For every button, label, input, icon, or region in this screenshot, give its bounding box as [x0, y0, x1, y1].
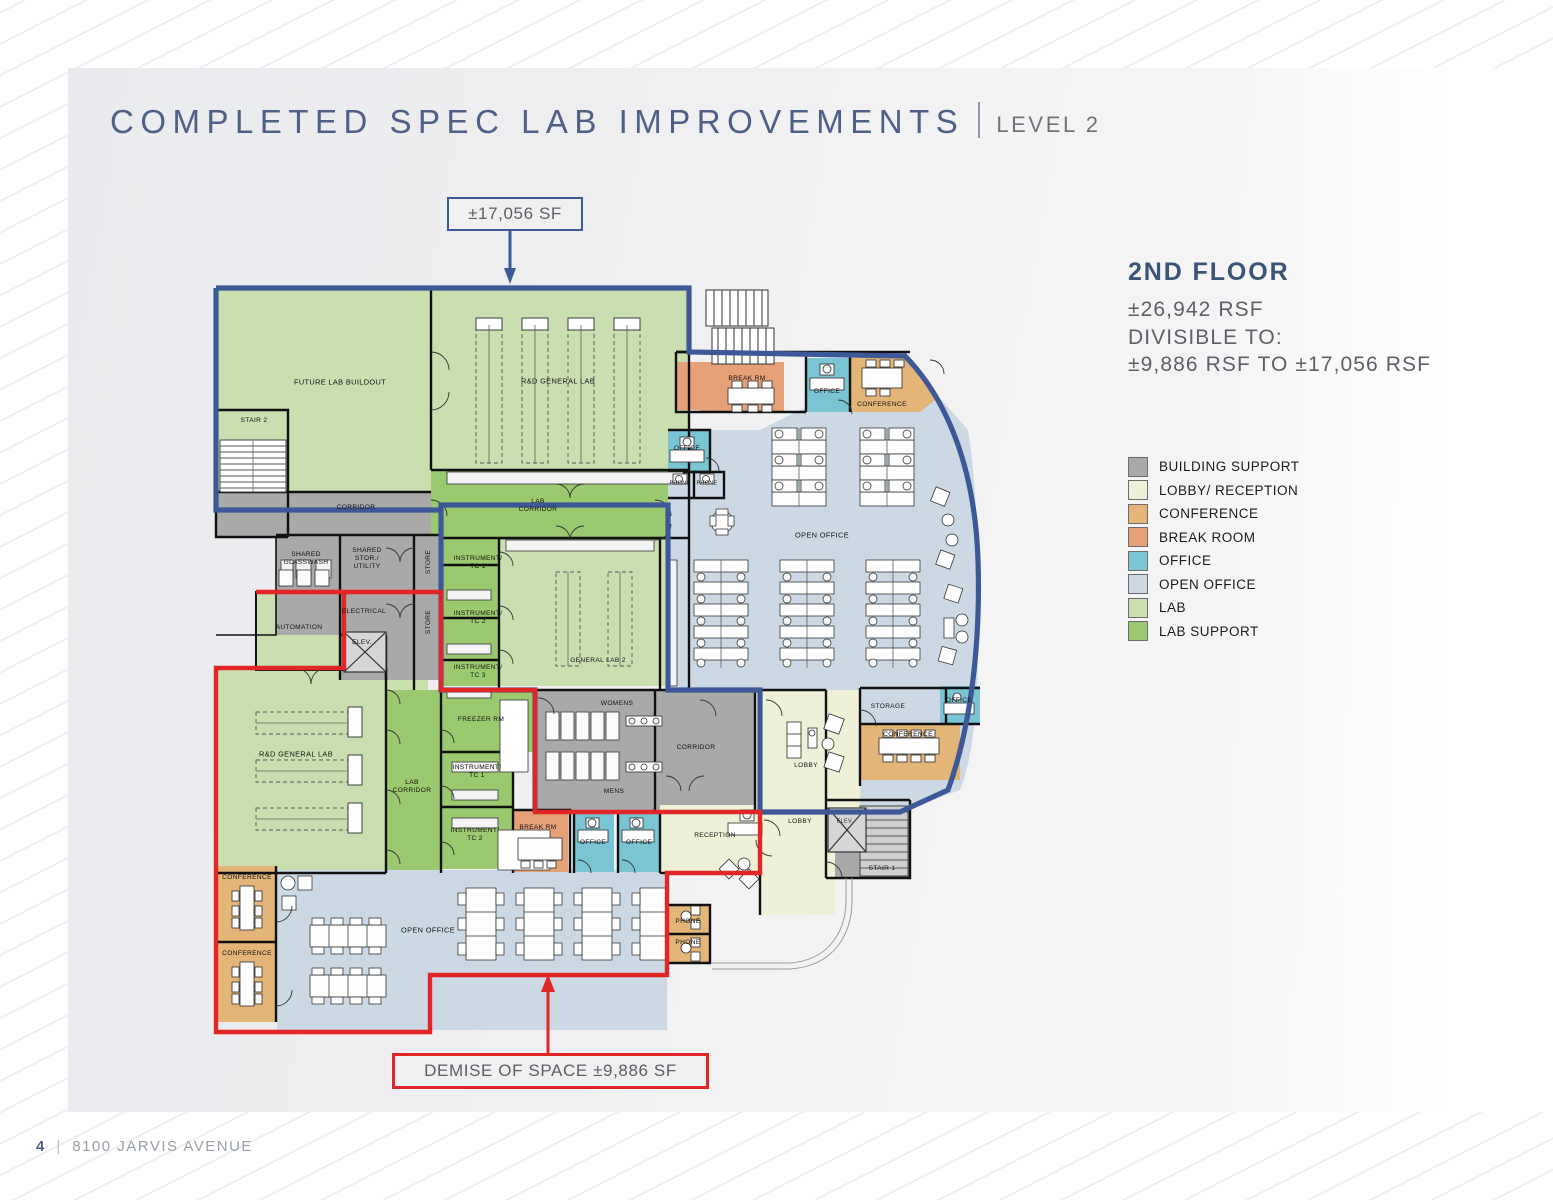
room-label: LAB CORRIDOR	[519, 498, 558, 514]
room-label: STORE	[425, 610, 433, 634]
room-label: BREAK RM	[519, 824, 556, 832]
legend-item-open-office: OPEN OFFICE	[1128, 573, 1300, 597]
room-label: CORRIDOR	[337, 504, 376, 512]
room-label: PHONE	[670, 481, 691, 488]
room-label: CORRIDOR	[677, 744, 716, 752]
callout-area-blue: ±17,056 SF	[447, 197, 583, 231]
room-label: OFFICE	[674, 445, 700, 453]
callout-demise-red: DEMISE OF SPACE ±9,886 SF	[392, 1053, 709, 1089]
room-label: ELEV.	[837, 819, 854, 826]
room-label: OPEN OFFICE	[795, 530, 849, 539]
room-label: PHONE	[675, 918, 700, 926]
room-label: FREEZER RM	[458, 716, 504, 724]
room-label: PHONE	[697, 481, 718, 488]
room-label: SHARED STOR./ UTILITY	[352, 547, 382, 571]
floor-info: 2ND FLOOR ±26,942 RSF DIVISIBLE TO: ±9,8…	[1128, 258, 1431, 379]
room-label: WOMENS	[601, 700, 634, 708]
legend-item-office: OFFICE	[1128, 549, 1300, 573]
room-label: CONFERENCE	[222, 950, 272, 958]
legend-label: CONFERENCE	[1159, 506, 1259, 521]
page-number: 4	[36, 1138, 44, 1155]
legend-swatch	[1128, 551, 1148, 571]
legend-swatch	[1128, 598, 1148, 618]
room-label: RECEPTION	[694, 832, 736, 840]
legend: BUILDING SUPPORT LOBBY/ RECEPTION CONFER…	[1128, 455, 1300, 643]
room-label: INSTRUMENT/ TC 1	[454, 555, 503, 571]
room-label: INSTRUMENT/ TC 3	[454, 664, 503, 680]
legend-label: BREAK ROOM	[1159, 530, 1256, 545]
legend-label: OPEN OFFICE	[1159, 577, 1256, 592]
footer-address: 8100 JARVIS AVENUE	[72, 1138, 253, 1155]
room-label: GENERAL LAB 2	[570, 657, 626, 665]
room-label: STAIR 2	[241, 417, 268, 425]
floor-info-title: 2ND FLOOR	[1128, 258, 1431, 287]
legend-label: LAB SUPPORT	[1159, 624, 1259, 639]
room-label: LOBBY	[794, 762, 818, 770]
room-label: CONFERENCE	[857, 401, 907, 409]
legend-label: BUILDING SUPPORT	[1159, 459, 1300, 474]
floor-info-divisible-label: DIVISIBLE TO:	[1128, 324, 1431, 352]
room-label: LAB CORRIDOR	[393, 779, 432, 795]
room-label: SHARED GLASSWASH	[284, 551, 329, 567]
room-label: BREAK RM	[728, 375, 765, 383]
floor-plan-svg	[0, 0, 1553, 1200]
room-label: ELECTRICAL	[342, 608, 386, 616]
room-label: OFFICE	[580, 839, 606, 847]
footer-divider: |	[56, 1138, 60, 1155]
room-label: CONFERENCE	[222, 874, 272, 882]
floor-plan[interactable]: FUTURE LAB BUILDOUT STAIR 2 CORRIDOR R&D…	[0, 0, 1553, 1200]
room-label: ELEV.	[352, 639, 372, 647]
legend-item-lobby-reception: LOBBY/ RECEPTION	[1128, 479, 1300, 503]
room-label: STAIR 1	[869, 865, 896, 873]
room-label: OFFICE	[814, 388, 840, 396]
room-label: INSTRUMENT/ TC 2	[454, 610, 503, 626]
legend-label: LOBBY/ RECEPTION	[1159, 483, 1298, 498]
legend-swatch	[1128, 621, 1148, 641]
floor-info-rsf: ±26,942 RSF	[1128, 296, 1431, 324]
legend-swatch	[1128, 457, 1148, 477]
legend-item-break-room: BREAK ROOM	[1128, 526, 1300, 550]
floor-info-divisible-range: ±9,886 RSF TO ±17,056 RSF	[1128, 351, 1431, 379]
room-label: LOBBY	[788, 818, 812, 826]
room-label: STORAGE	[871, 703, 906, 711]
legend-swatch	[1128, 574, 1148, 594]
footer: 4 | 8100 JARVIS AVENUE	[36, 1138, 253, 1155]
room-label: R&D GENERAL LAB	[259, 749, 333, 758]
legend-item-lab-support: LAB SUPPORT	[1128, 620, 1300, 644]
room-label: INSTRUMENT/ TC 1	[453, 764, 502, 780]
legend-label: OFFICE	[1159, 553, 1212, 568]
legend-swatch	[1128, 527, 1148, 547]
room-label: MENS	[604, 788, 624, 796]
room-label: OFFICE	[626, 839, 652, 847]
room-label: STORE	[425, 550, 433, 574]
legend-swatch	[1128, 504, 1148, 524]
room-label: R&D GENERAL LAB	[521, 376, 595, 385]
legend-swatch	[1128, 480, 1148, 500]
legend-item-building-support: BUILDING SUPPORT	[1128, 455, 1300, 479]
room-label: PHONE	[675, 939, 700, 947]
legend-item-lab: LAB	[1128, 596, 1300, 620]
room-label: CONFERENCE	[883, 731, 933, 739]
room-label: INSTRUMENT/ TC 2	[451, 827, 500, 843]
room-label: OPEN OFFICE	[401, 925, 455, 934]
room-label: AUTOMATION	[276, 624, 323, 632]
room-label: OFFICE	[946, 697, 972, 705]
legend-label: LAB	[1159, 600, 1186, 615]
legend-item-conference: CONFERENCE	[1128, 502, 1300, 526]
room-label: FUTURE LAB BUILDOUT	[294, 377, 386, 386]
